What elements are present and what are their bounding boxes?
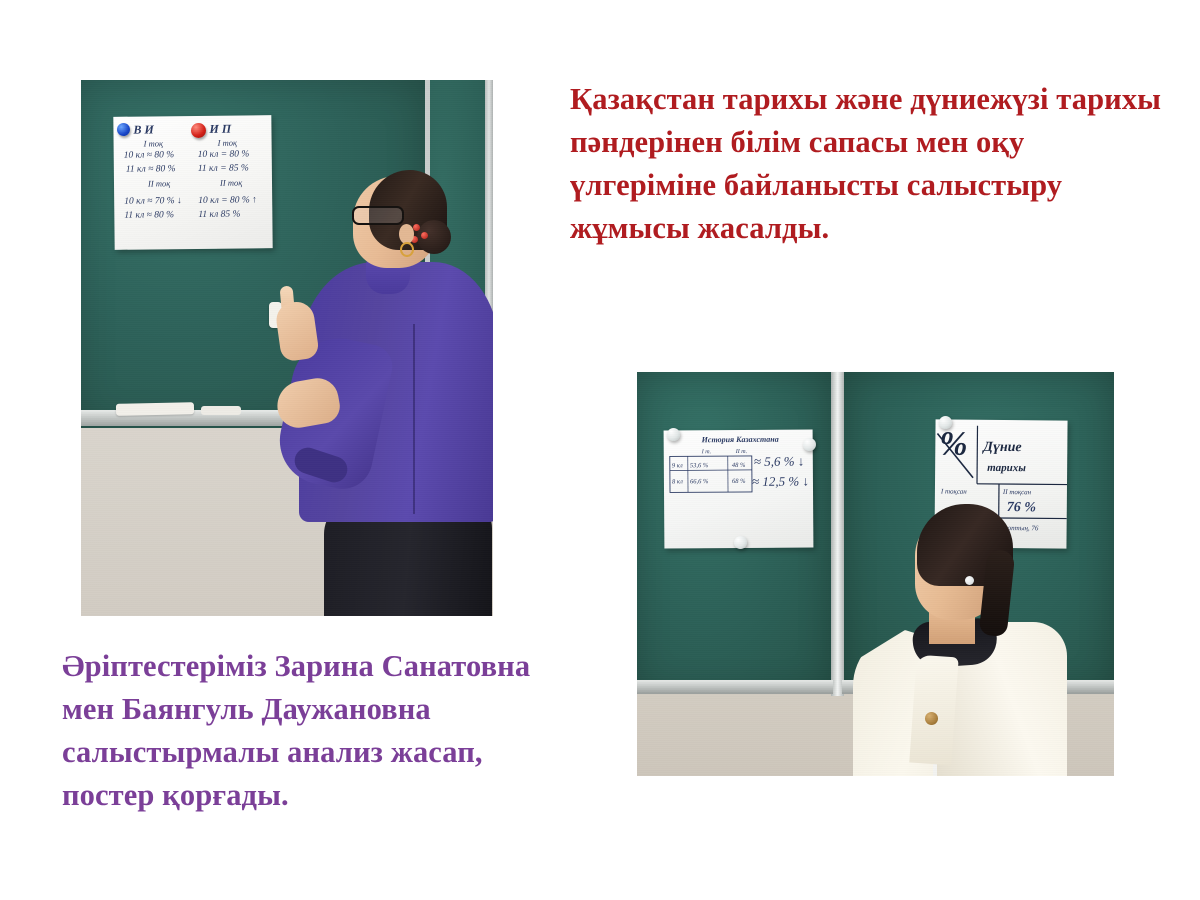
chalkboard-divider: [831, 372, 844, 696]
poster-left-line-5: 11 кл ≈ 80 %: [124, 210, 174, 221]
magnet-icon: [667, 428, 680, 441]
magnet-icon: [939, 416, 952, 429]
poster-right-line-1: 10 кл = 80 %: [198, 149, 250, 160]
sweater-seam: [413, 324, 415, 514]
chalk-tray-left: [637, 680, 833, 694]
magnet-icon: [734, 536, 747, 549]
slide-heading: Қазақстан тарихы және дүниежүзі тарихы п…: [570, 78, 1178, 250]
poster-right-title: И П: [209, 122, 231, 137]
person-ear: [399, 224, 414, 244]
poster-history-of-kazakhstan: История Казахстана I т. II т. 9 кл 53,6 …: [664, 429, 814, 548]
poster-left-line-3: II тоқ: [148, 178, 170, 188]
pearl-earring: [965, 576, 974, 585]
eraser: [201, 406, 241, 415]
eyeglasses: [352, 206, 404, 225]
hair-bead: [413, 224, 420, 231]
magnet-icon: [803, 438, 816, 451]
poster-left-line-0: I тоқ: [144, 138, 163, 148]
poster-right-line-3: II тоқ: [220, 177, 242, 187]
poster-right-line-5: 11 кл 85 %: [198, 210, 240, 220]
poster-right-line-0: I тоқ: [218, 138, 237, 148]
blue-pin-icon: [117, 123, 130, 136]
earring: [400, 242, 414, 257]
jacket-button: [925, 712, 938, 725]
photo-teacher-at-chalkboard: В И И П I тоқ 10 кл ≈ 80 % 11 кл ≈ 80 % …: [81, 80, 493, 616]
poster-left-line-1: 10 кл ≈ 80 %: [124, 150, 175, 161]
poster-left-line-2: 11 кл ≈ 80 %: [126, 164, 176, 175]
poster-left-title: В И: [133, 122, 153, 137]
poster-right-line-2: 11 кл = 85 %: [198, 163, 249, 174]
red-pin-icon: [191, 123, 206, 138]
poster-right-line-4: 10 кл = 80 % ↑: [198, 195, 257, 206]
chalk-piece: [116, 402, 194, 416]
poster-left-line-4: 10 кл ≈ 70 % ↓: [124, 196, 182, 207]
slide-caption: Әріптестеріміз Зарина Санатовна мен Баян…: [62, 645, 572, 817]
photo-teacher-with-posters: История Казахстана I т. II т. 9 кл 53,6 …: [637, 372, 1114, 776]
poster-table-lines: [664, 429, 814, 548]
jacket-lapel: [909, 655, 958, 766]
hair-bead: [421, 232, 428, 239]
